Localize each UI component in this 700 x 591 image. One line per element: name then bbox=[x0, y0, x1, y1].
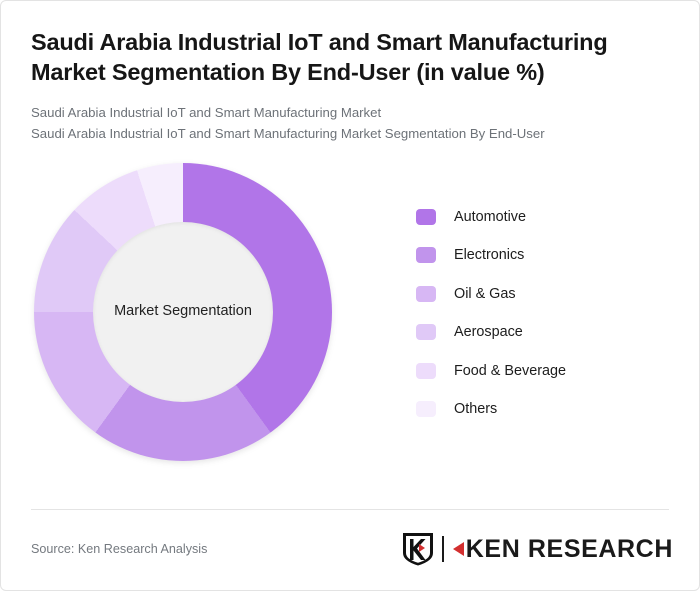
legend-swatch bbox=[416, 209, 436, 225]
legend-swatch bbox=[416, 286, 436, 302]
subtitle-market: Saudi Arabia Industrial IoT and Smart Ma… bbox=[31, 103, 669, 124]
brand-name: KEN RESEARCH bbox=[453, 535, 673, 564]
legend-item[interactable]: Others bbox=[416, 390, 566, 428]
legend-swatch bbox=[416, 401, 436, 417]
footer-divider bbox=[31, 509, 669, 510]
chart-card: Saudi Arabia Industrial IoT and Smart Ma… bbox=[0, 0, 700, 591]
donut-hole: Market Segmentation bbox=[93, 222, 273, 402]
legend-swatch bbox=[416, 324, 436, 340]
legend-label: Others bbox=[454, 401, 497, 417]
page-title: Saudi Arabia Industrial IoT and Smart Ma… bbox=[31, 27, 669, 87]
legend-item[interactable]: Oil & Gas bbox=[416, 275, 566, 313]
legend-item[interactable]: Food & Beverage bbox=[416, 351, 566, 389]
legend-label: Automotive bbox=[454, 209, 526, 225]
legend-item[interactable]: Aerospace bbox=[416, 313, 566, 351]
legend-label: Electronics bbox=[454, 247, 524, 263]
brand-logo: KEN RESEARCH bbox=[401, 531, 673, 567]
subtitle-group: Saudi Arabia Industrial IoT and Smart Ma… bbox=[31, 103, 669, 145]
ken-research-shield-icon bbox=[401, 531, 435, 567]
brand-triangle-icon bbox=[453, 542, 464, 556]
chart-legend: AutomotiveElectronicsOil & GasAerospaceF… bbox=[416, 198, 566, 428]
brand-name-text: KEN RESEARCH bbox=[466, 535, 673, 564]
chart-header: Saudi Arabia Industrial IoT and Smart Ma… bbox=[1, 1, 699, 145]
legend-label: Food & Beverage bbox=[454, 363, 566, 379]
chart-footer: Source: Ken Research Analysis KEN RESEAR… bbox=[31, 528, 673, 570]
legend-label: Aerospace bbox=[454, 324, 523, 340]
brand-separator bbox=[442, 536, 444, 562]
chart-plot-area: Market Segmentation AutomotiveElectronic… bbox=[1, 153, 699, 483]
donut-center-label: Market Segmentation bbox=[102, 302, 264, 321]
legend-item[interactable]: Electronics bbox=[416, 236, 566, 274]
legend-item[interactable]: Automotive bbox=[416, 198, 566, 236]
legend-swatch bbox=[416, 247, 436, 263]
subtitle-segmentation: Saudi Arabia Industrial IoT and Smart Ma… bbox=[31, 124, 669, 145]
source-text: Source: Ken Research Analysis bbox=[31, 542, 207, 556]
donut-chart: Market Segmentation bbox=[34, 163, 332, 461]
legend-swatch bbox=[416, 363, 436, 379]
legend-label: Oil & Gas bbox=[454, 286, 516, 302]
